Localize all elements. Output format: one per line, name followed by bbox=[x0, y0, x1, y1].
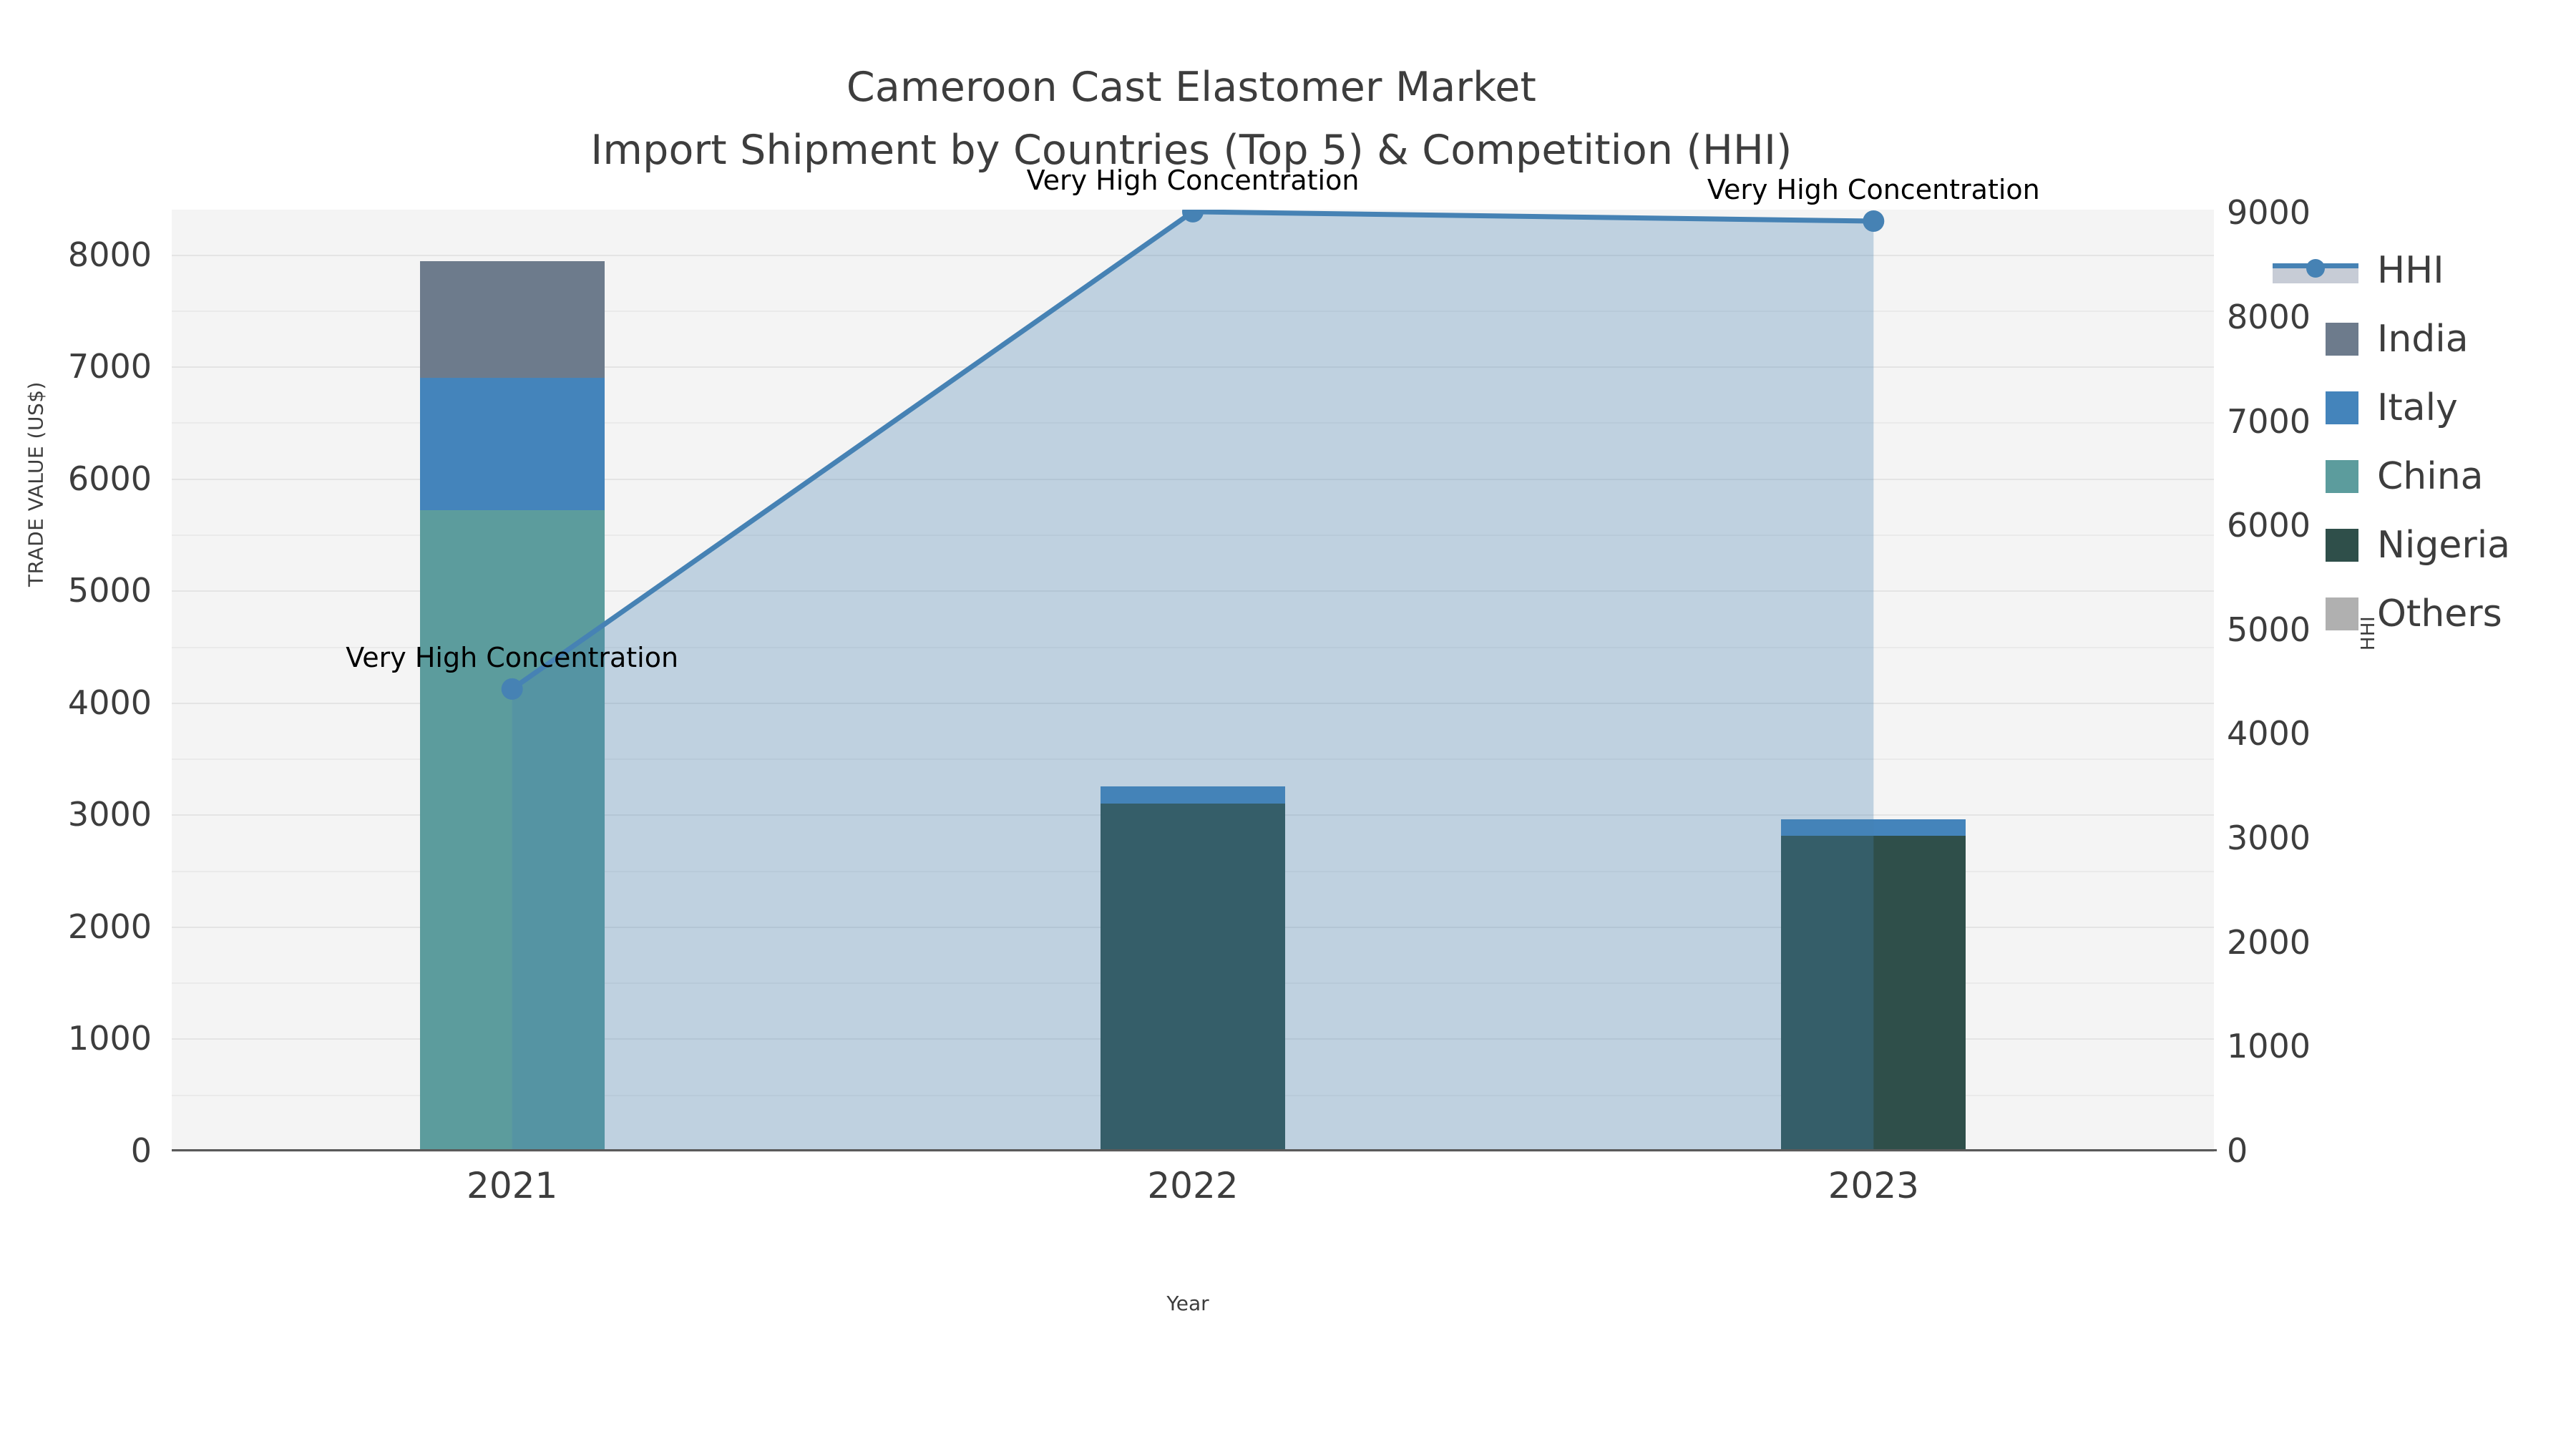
legend-label-italy: Italy bbox=[2377, 386, 2458, 429]
legend-swatch-others bbox=[2326, 597, 2358, 630]
hhi-overlay-svg bbox=[172, 210, 2214, 1151]
x-tick-2022: 2022 bbox=[1147, 1165, 1238, 1206]
legend-item-others[interactable]: Others bbox=[2326, 580, 2569, 648]
y-left-tick-8000: 8000 bbox=[68, 235, 152, 274]
y-axis-left-ticks: 010002000300040005000600070008000 bbox=[0, 210, 152, 1151]
legend-item-italy[interactable]: Italy bbox=[2326, 374, 2569, 442]
x-tick-2023: 2023 bbox=[1828, 1165, 1919, 1206]
y-right-tick-2000: 2000 bbox=[2227, 923, 2311, 962]
legend-item-nigeria[interactable]: Nigeria bbox=[2326, 511, 2569, 580]
y-right-tick-5000: 5000 bbox=[2227, 610, 2311, 649]
y-left-tick-6000: 6000 bbox=[68, 459, 152, 498]
y-right-tick-8000: 8000 bbox=[2227, 298, 2311, 336]
y-right-tick-9000: 9000 bbox=[2227, 193, 2311, 232]
x-axis-ticks: 202120222023 bbox=[172, 1165, 2214, 1229]
y-axis-left-label: TRADE VALUE (US$) bbox=[24, 234, 48, 735]
legend-item-china[interactable]: China bbox=[2326, 442, 2569, 511]
y-left-tick-2000: 2000 bbox=[68, 907, 152, 946]
y-left-tick-0: 0 bbox=[131, 1131, 152, 1170]
y-left-tick-5000: 5000 bbox=[68, 571, 152, 610]
hhi-point-2021[interactable] bbox=[502, 678, 523, 700]
y-right-tick-7000: 7000 bbox=[2227, 402, 2311, 441]
y-right-tick-1000: 1000 bbox=[2227, 1027, 2311, 1065]
legend-swatch-india bbox=[2326, 323, 2358, 356]
y-left-tick-1000: 1000 bbox=[68, 1019, 152, 1058]
x-axis-label: Year bbox=[887, 1292, 1488, 1315]
legend-item-india[interactable]: India bbox=[2326, 305, 2569, 374]
legend-swatch-nigeria bbox=[2326, 529, 2358, 562]
legend-label-india: India bbox=[2377, 318, 2469, 361]
y-right-tick-3000: 3000 bbox=[2227, 819, 2311, 857]
legend-swatch-china bbox=[2326, 460, 2358, 493]
legend-label-others: Others bbox=[2377, 592, 2502, 635]
chart-title-line2: Import Shipment by Countries (Top 5) & C… bbox=[0, 119, 2383, 182]
legend-label-hhi: HHI bbox=[2377, 249, 2444, 292]
hhi-point-2023[interactable] bbox=[1863, 210, 1884, 232]
x-tick-2021: 2021 bbox=[467, 1165, 557, 1206]
y-left-tick-7000: 7000 bbox=[68, 347, 152, 386]
chart-title-line1: Cameroon Cast Elastomer Market bbox=[0, 56, 2383, 119]
y-left-tick-3000: 3000 bbox=[68, 795, 152, 834]
legend-line-dot bbox=[2306, 259, 2325, 278]
legend-line-marker-icon bbox=[2273, 254, 2358, 287]
legend-label-china: China bbox=[2377, 455, 2484, 498]
y-right-tick-6000: 6000 bbox=[2227, 506, 2311, 545]
hhi-area-fill bbox=[512, 212, 1874, 1151]
plot-area bbox=[172, 210, 2214, 1151]
y-right-tick-0: 0 bbox=[2227, 1131, 2248, 1170]
legend-swatch-italy bbox=[2326, 391, 2358, 424]
legend-label-nigeria: Nigeria bbox=[2377, 524, 2510, 567]
x-axis-line bbox=[172, 1149, 2217, 1151]
y-left-tick-4000: 4000 bbox=[68, 683, 152, 722]
chart-title: Cameroon Cast Elastomer Market Import Sh… bbox=[0, 56, 2383, 182]
legend: HHIIndiaItalyChinaNigeriaOthers bbox=[2326, 236, 2569, 648]
legend-item-hhi[interactable]: HHI bbox=[2326, 236, 2569, 305]
y-right-tick-4000: 4000 bbox=[2227, 714, 2311, 753]
